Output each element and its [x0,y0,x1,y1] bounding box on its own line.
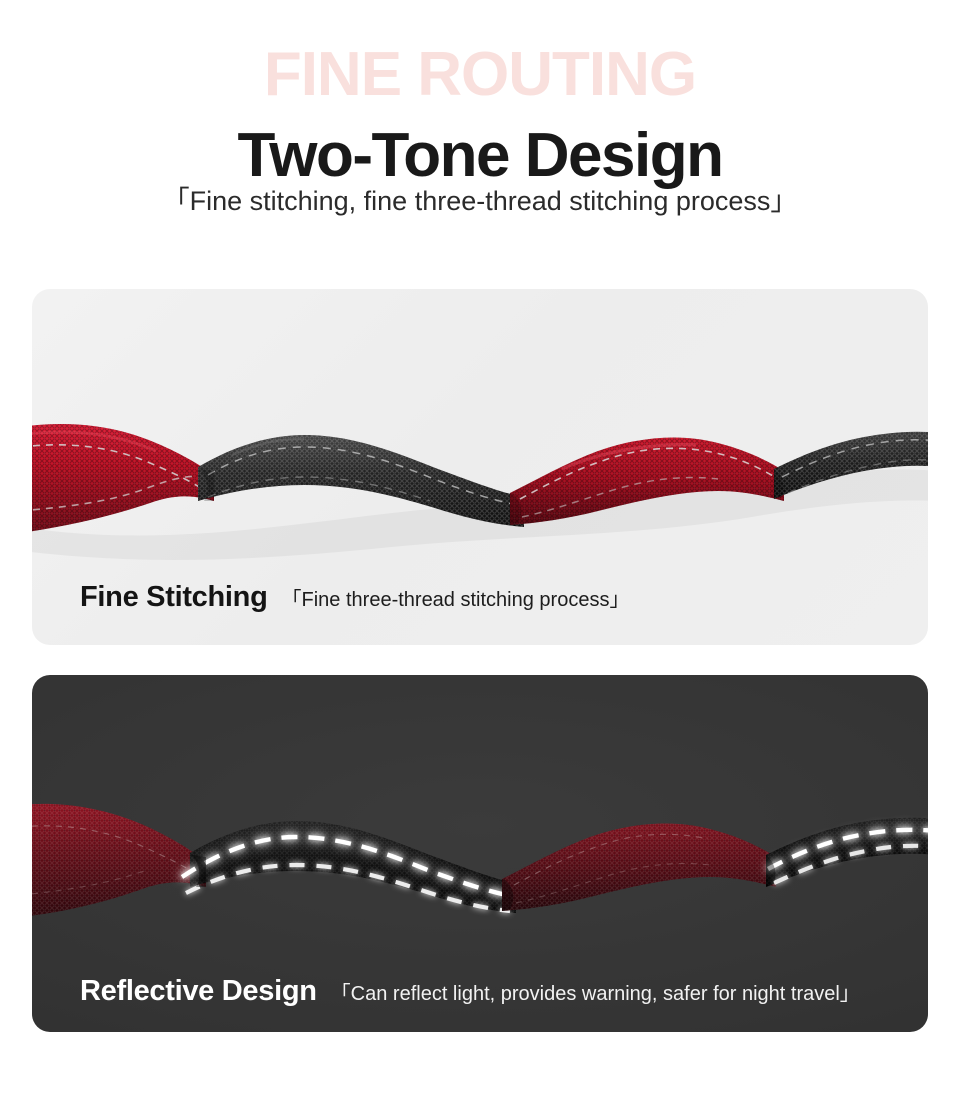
stitch-line [514,834,708,885]
strap-segment-black-reflective-2 [766,818,928,887]
stitch-line [32,476,202,511]
stitch-line [208,477,430,501]
page-subtitle: 「Fine stitching, fine three-thread stitc… [0,185,960,217]
strap-segment-red-2 [510,437,784,525]
stitch-line [208,447,518,505]
feature-card-reflective-design: Reflective Design 「Can reflect light, pr… [32,675,928,1032]
stitch-line [520,448,778,499]
card-caption-fine-stitching: Fine Stitching 「Fine three-thread stitch… [80,583,629,612]
page-title: Two-Tone Design [0,125,960,187]
stitch-line [516,864,710,904]
reflective-stitch-line [768,830,928,869]
card-caption-title: Fine Stitching [80,583,268,612]
reflective-stitch-line [774,846,928,883]
reflective-stitch-line [182,837,516,897]
stitch-line [32,826,196,874]
strap-shadow [32,470,928,560]
strap-segment-darkred-1 [32,804,206,917]
stitch-line [32,445,204,490]
strap-ribbon [32,804,928,917]
card-caption-subtitle: 「Fine three-thread stitching process」 [282,590,630,610]
stitch-line [522,478,718,518]
card-caption-title: Reflective Design [80,977,317,1006]
strap-segment-darkred-2 [502,823,776,911]
watermark-text: FINE ROUTING [0,44,960,106]
reflective-stitch-line [186,865,510,911]
strap-segment-black-1 [198,435,524,527]
strap-segment-red-1 [32,424,214,533]
strap-image-fine-stitching [32,351,928,591]
strap-image-reflective-design [32,753,928,973]
card-caption-subtitle: 「Can reflect light, provides warning, sa… [331,984,860,1004]
strap-segment-black-2 [774,432,928,499]
stitch-line [788,460,928,493]
strap-ribbon [32,424,928,533]
stitch-line [32,871,144,895]
page-header: FINE ROUTING Two-Tone Design 「Fine stitc… [0,0,960,289]
stitch-line [782,440,928,477]
card-caption-reflective-design: Reflective Design 「Can reflect light, pr… [80,977,860,1006]
strap-segment-black-reflective-1 [182,821,516,913]
feature-card-fine-stitching: Fine Stitching 「Fine three-thread stitch… [32,289,928,645]
